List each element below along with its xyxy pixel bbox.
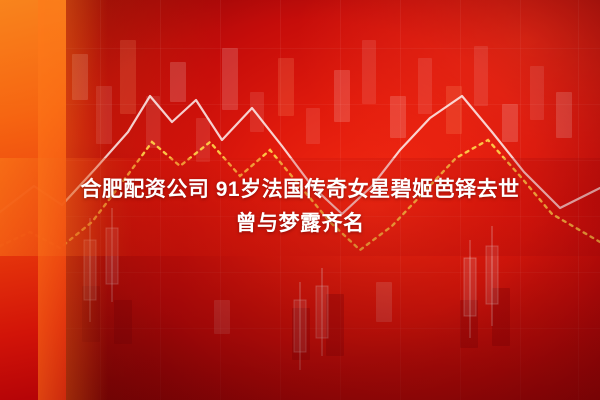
news-thumbnail-image: 合肥配资公司 91岁法国传奇女星碧姬芭铎去世 曾与梦露齐名 xyxy=(0,0,600,400)
headline-text-block: 合肥配资公司 91岁法国传奇女星碧姬芭铎去世 曾与梦露齐名 xyxy=(0,158,600,256)
headline-line-1: 合肥配资公司 91岁法国传奇女星碧姬芭铎去世 xyxy=(80,177,519,203)
headline-line-2: 曾与梦露齐名 xyxy=(236,211,365,237)
